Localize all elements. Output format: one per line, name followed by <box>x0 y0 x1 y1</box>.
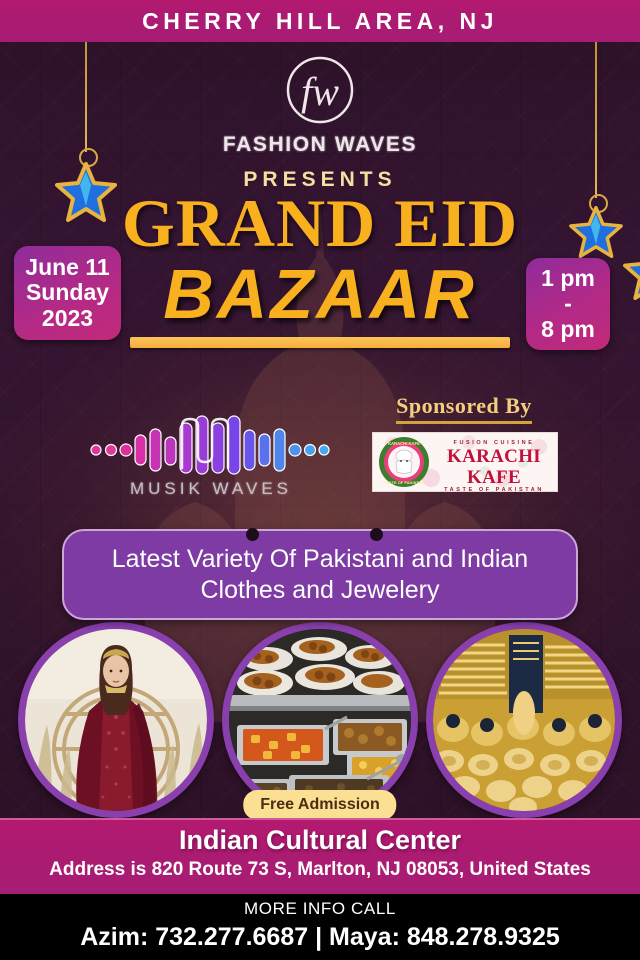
date-line-2: Sunday <box>18 280 117 305</box>
phone-numbers: Azim: 732.277.6687 | Maya: 848.278.9325 <box>0 922 640 952</box>
gold-jewelry-image <box>433 629 615 811</box>
time-line-1: 1 pm <box>530 266 606 291</box>
time-line-2: - <box>530 291 606 316</box>
photo-gallery <box>0 622 640 818</box>
free-admission-badge: Free Admission <box>243 790 396 820</box>
poster-body: fw FASHION WAVES PRESENTS GRAND EID BAZA… <box>0 42 640 818</box>
event-poster: CHERRY HILL AREA, NJ <box>0 0 640 960</box>
venue-address: Address is 820 Route 73 S, Marlton, NJ 0… <box>0 859 640 882</box>
banner-pin-left <box>246 528 259 541</box>
description-line-1: Latest Variety Of Pakistani and Indian <box>82 544 558 575</box>
time-line-3: 8 pm <box>530 317 606 342</box>
food-buffet-image <box>229 629 411 811</box>
badge-bottom-text: TASTE OF PAKISTAN <box>384 480 425 485</box>
time-badge: 1 pm - 8 pm <box>526 258 610 350</box>
fw-monogram-icon: fw <box>276 52 364 132</box>
contact-band: MORE INFO CALL Azim: 732.277.6687 | Maya… <box>0 894 640 960</box>
photo-food-buffet <box>222 622 418 818</box>
date-line-3: 2023 <box>18 306 117 331</box>
sponsored-by-label: Sponsored By <box>396 394 532 424</box>
kk-tagline-bottom: TASTE OF PAKISTAN <box>435 488 553 492</box>
title-divider <box>130 337 510 348</box>
more-info-label: MORE INFO CALL <box>0 900 640 919</box>
venue-band: Indian Cultural Center Address is 820 Ro… <box>0 818 640 894</box>
fw-monogram-text: fw <box>301 69 339 114</box>
musik-waves-logo: MUSIK WAVES <box>86 410 336 499</box>
venue-name: Indian Cultural Center <box>0 825 640 856</box>
banner-pin-right <box>370 528 383 541</box>
date-badge: June 11 Sunday 2023 <box>14 246 121 340</box>
date-line-1: June 11 <box>18 255 117 280</box>
chef-badge-icon: KARACHI KAFE TASTE OF PAKISTAN <box>378 436 430 488</box>
photo-fashion-model <box>18 622 214 818</box>
header-location-band: CHERRY HILL AREA, NJ <box>0 0 640 42</box>
location-text: CHERRY HILL AREA, NJ <box>142 10 498 33</box>
brand-name: FASHION WAVES <box>200 134 440 155</box>
fashion-waves-logo: fw FASHION WAVES PRESENTS <box>200 52 440 190</box>
hanging-star-left <box>56 42 116 205</box>
description-line-2: Clothes and Jewelery <box>82 575 558 606</box>
sponsor-section: Sponsored By <box>372 394 556 492</box>
badge-top-text: KARACHI KAFE <box>388 441 420 446</box>
waveform-icon <box>86 410 336 476</box>
karachi-kafe-logo: KARACHI KAFE TASTE OF PAKISTAN FUSION CU… <box>372 432 558 492</box>
woman-maroon-dress-image <box>25 629 207 811</box>
musik-waves-name: MUSIK WAVES <box>86 479 336 499</box>
karachi-kafe-wordmark: FUSION CUISINE KARACHI KAFE TASTE OF PAK… <box>435 441 553 492</box>
photo-gold-jewelry <box>426 622 622 818</box>
kk-name: KARACHI KAFE <box>435 447 553 489</box>
description-banner: Latest Variety Of Pakistani and Indian C… <box>62 529 578 620</box>
